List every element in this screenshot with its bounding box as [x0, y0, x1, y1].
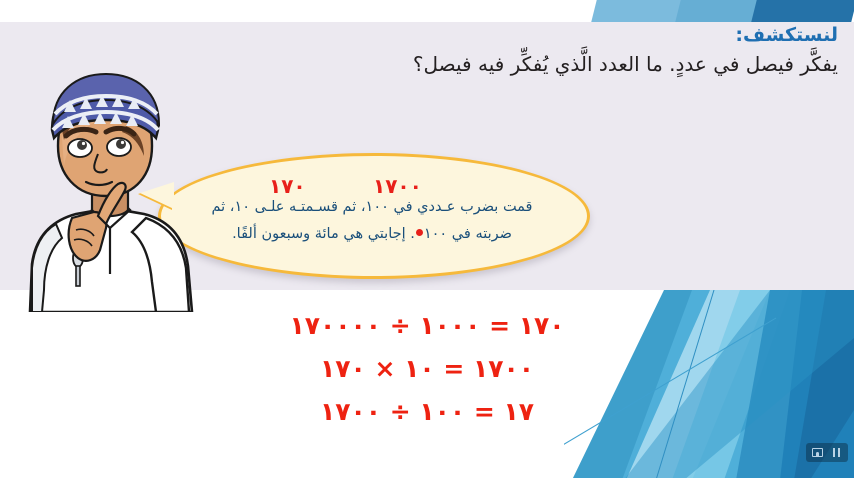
- lower-panel: ١٧٠٠٠٠ ÷ ١٠٠٠ = ١٧٠ ١٧٠ × ١٠ = ١٧٠٠ ١٧٠٠…: [0, 290, 854, 480]
- bubble-line-2-end: . إجابتي هي مائة وسبعون ألفًا.: [232, 226, 415, 242]
- speech-bubble-tail: [140, 182, 174, 209]
- pause-icon: [833, 448, 840, 457]
- bubble-line-2-start: ضربته في: [447, 226, 512, 242]
- bubble-number-row: ١٧٠ ١٧٠٠: [161, 174, 587, 196]
- presenter-view-button[interactable]: [810, 446, 825, 459]
- upper-panel: لنستكشف: يفكَّر فيصل في عددٍ. ما العدد ا…: [0, 22, 854, 290]
- bubble-text-line-1: قمت بضرب عـددي في ١٠٠، ثم قسـمتـه علـى ١…: [179, 194, 565, 221]
- equation-list: ١٧٠٠٠٠ ÷ ١٠٠٠ = ١٧٠ ١٧٠ × ١٠ = ١٧٠٠ ١٧٠٠…: [0, 304, 854, 433]
- student-character-illustration: [6, 68, 206, 312]
- ribbon-dark-shape: [750, 0, 854, 22]
- red-dot-marker-icon: [416, 229, 423, 236]
- bubble-text: قمت بضرب عـددي في ١٠٠، ثم قسـمتـه علـى ١…: [179, 194, 565, 248]
- bubble-text-line-2: ضربته في ١٠٠. إجابتي هي مائة وسبعون ألفً…: [179, 221, 565, 248]
- page-title: لنستكشف:: [735, 24, 838, 46]
- bubble-line-2-number: ١٠٠: [424, 226, 447, 242]
- slide-canvas: لنستكشف: يفكَّر فيصل في عددٍ. ما العدد ا…: [0, 0, 854, 480]
- speech-bubble: ١٧٠ ١٧٠٠ قمت بضرب عـددي في ١٠٠، ثم قسـمت…: [158, 153, 590, 279]
- player-controls[interactable]: [806, 443, 848, 462]
- pause-button[interactable]: [829, 446, 844, 459]
- equation-row: ١٧٠٠ ÷ ١٠٠ = ١٧: [0, 390, 854, 433]
- question-text: يفكَّر فيصل في عددٍ. ما العدد الَّذي يُف…: [413, 52, 838, 76]
- presenter-screen-icon: [812, 448, 823, 457]
- ribbon-light-shape: [590, 0, 688, 22]
- equation-row: ١٧٠ × ١٠ = ١٧٠٠: [0, 347, 854, 390]
- top-strip: [0, 0, 854, 22]
